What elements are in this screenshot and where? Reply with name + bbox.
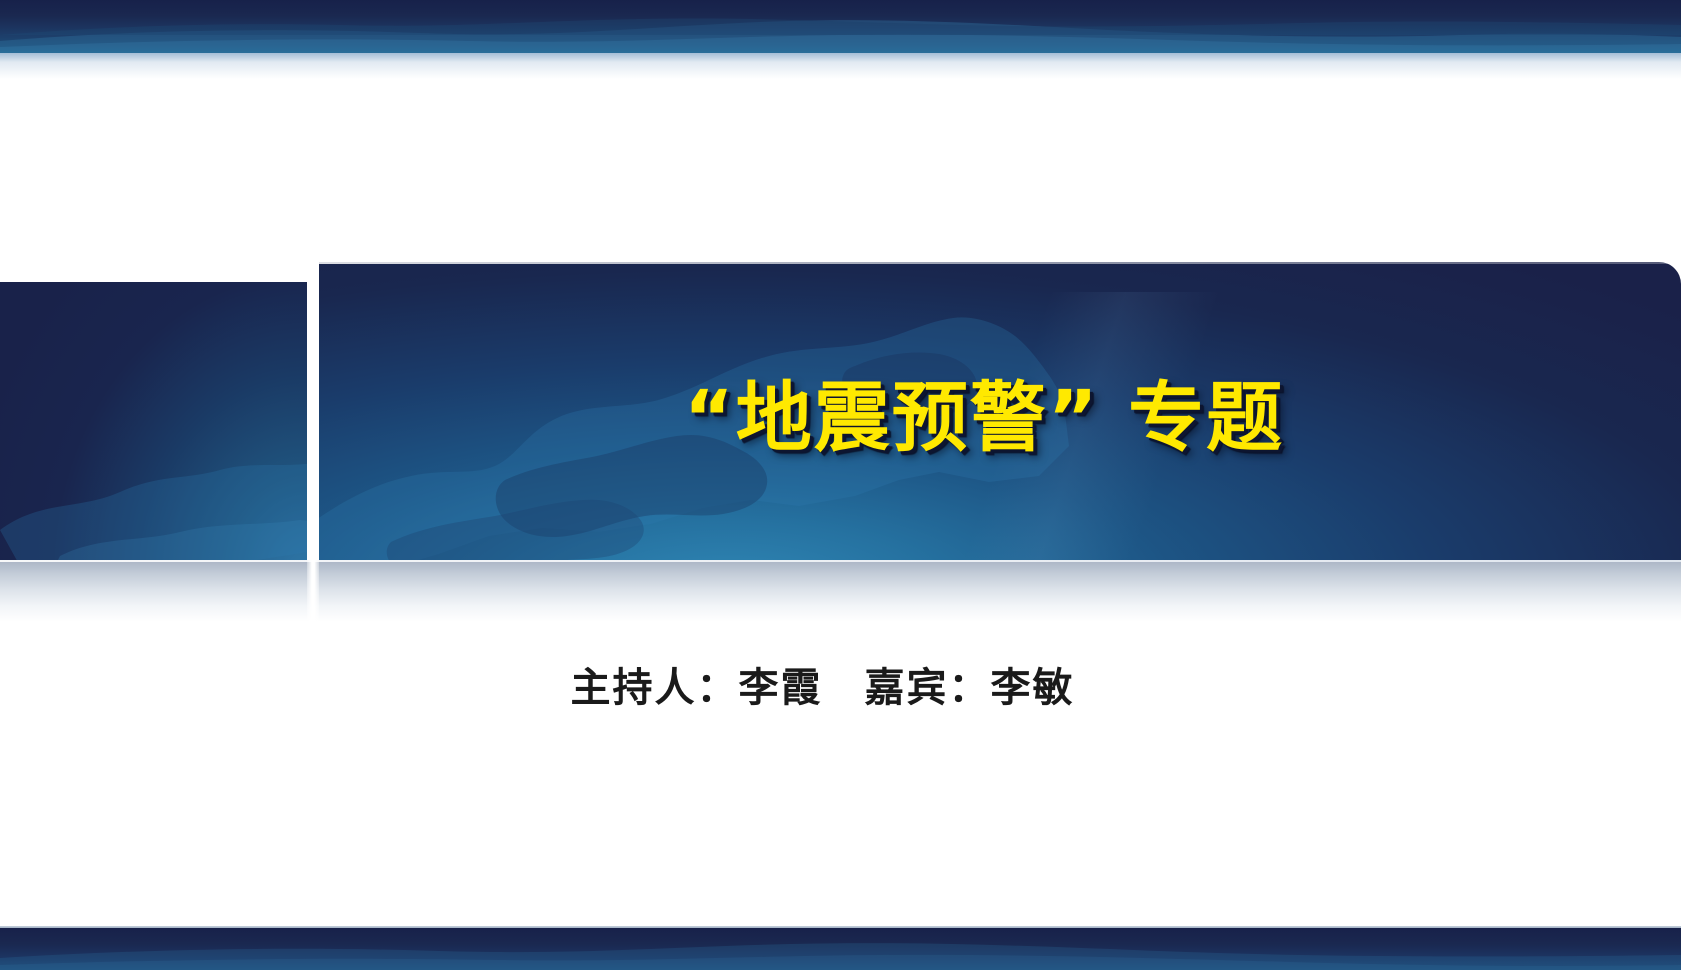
panel-reflection: [0, 560, 1681, 622]
panel-left-block: [0, 282, 307, 560]
world-map-silhouette-icon: [0, 320, 307, 560]
panel-right-block: [319, 262, 1681, 560]
vertical-white-divider: [307, 278, 319, 566]
top-decorative-banner: [0, 0, 1681, 53]
world-map-silhouette-icon: [319, 270, 1079, 560]
bottom-banner-wave-icon: [0, 938, 1681, 970]
panel-top-highlight: [319, 262, 1681, 264]
reflection-divider: [307, 560, 319, 622]
title-panel: “地震预警” 专题: [0, 262, 1681, 560]
slide-subtitle-container: 主持人：李霞 嘉宾：李敏: [0, 655, 1681, 713]
reflection-edge: [0, 560, 1681, 562]
top-banner-fade: [0, 53, 1681, 79]
bottom-decorative-banner: [0, 928, 1681, 970]
top-banner-wave-icon: [0, 13, 1681, 53]
slide-subtitle: 主持人：李霞 嘉宾：李敏: [571, 655, 1075, 713]
